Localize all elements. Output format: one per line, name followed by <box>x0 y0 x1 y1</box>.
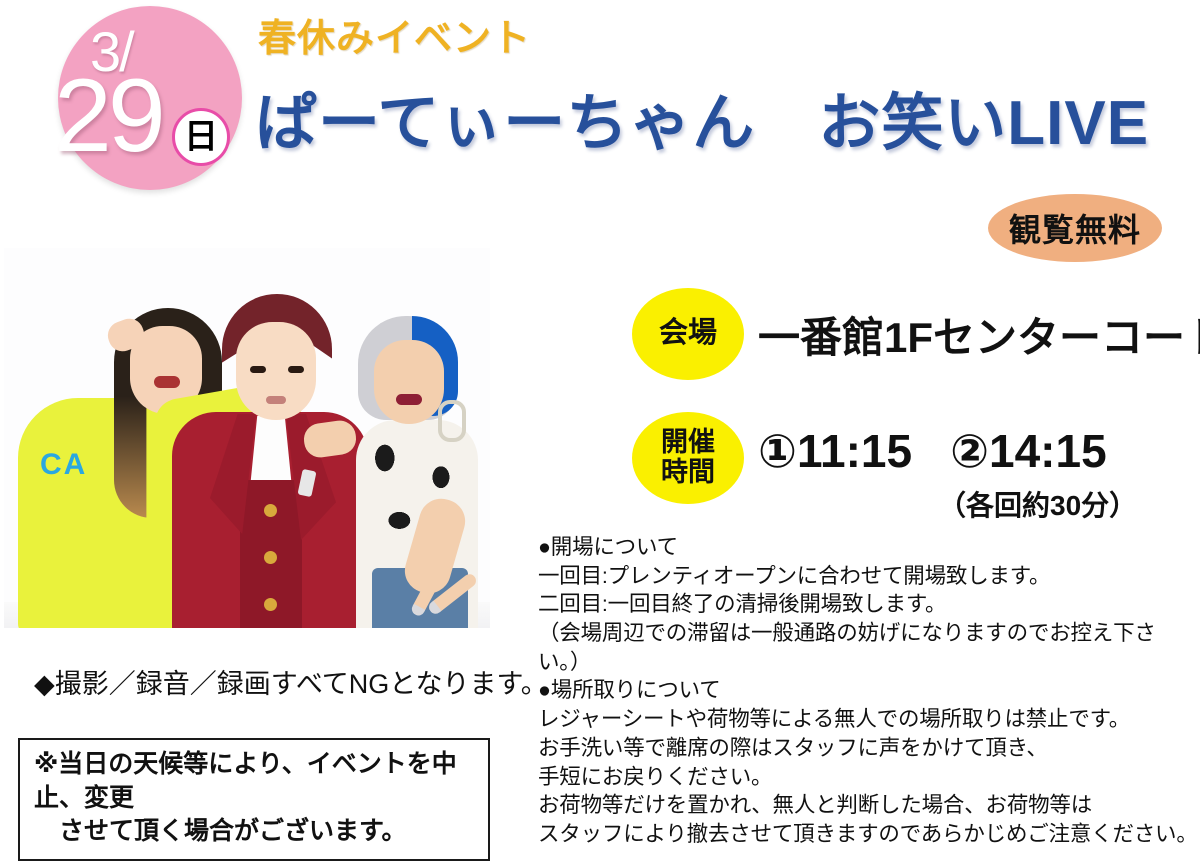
weather-cancellation-note: ※当日の天候等により、イベントを中止、変更 させて頂く場合がございます。 <box>18 738 490 861</box>
performer-center-buttons <box>264 504 278 628</box>
event-notes: ●開場について 一回目:プレンティオープンに合わせて開場致します。 二回目:一回… <box>538 533 1200 849</box>
performer-left-hoodie-logo: CA <box>40 448 87 482</box>
page-title: ぱーてぃーちゃん お笑いLIVE <box>255 88 1149 159</box>
time-slot-1: ①11:15 <box>758 425 912 477</box>
recording-prohibited-note: ◆撮影／録音／録画すべてNGとなります。 <box>34 662 548 701</box>
venue-label-bubble: 会場 <box>632 288 744 380</box>
event-kicker: 春休みイベント <box>258 20 531 58</box>
performer-left-mouth <box>154 376 180 388</box>
date-day: 29 <box>54 64 162 168</box>
venue-value: 一番館1Fセンターコート <box>758 304 1200 365</box>
performer-right-mouth <box>396 394 422 405</box>
time-label-bubble: 開催 時間 <box>632 412 744 504</box>
performer-right-earring <box>438 400 466 442</box>
performer-right-face <box>374 340 444 424</box>
time-values: ①11:15②14:15 <box>758 424 1107 478</box>
performer-center-eye-right <box>288 366 304 373</box>
performer-center-eye-left <box>250 366 266 373</box>
time-duration-note: （各回約30分） <box>938 484 1137 524</box>
free-admission-badge: 観覧無料 <box>988 194 1162 262</box>
performer-center-mouth <box>266 396 286 404</box>
time-slot-2: ②14:15 <box>950 425 1107 477</box>
performer-photo: CA <box>4 248 490 628</box>
date-badge: 3/ 29 日 <box>58 6 242 190</box>
date-day-of-week-badge: 日 <box>172 108 230 166</box>
performer-right-hand <box>422 562 482 622</box>
performer-center-face <box>236 322 316 420</box>
